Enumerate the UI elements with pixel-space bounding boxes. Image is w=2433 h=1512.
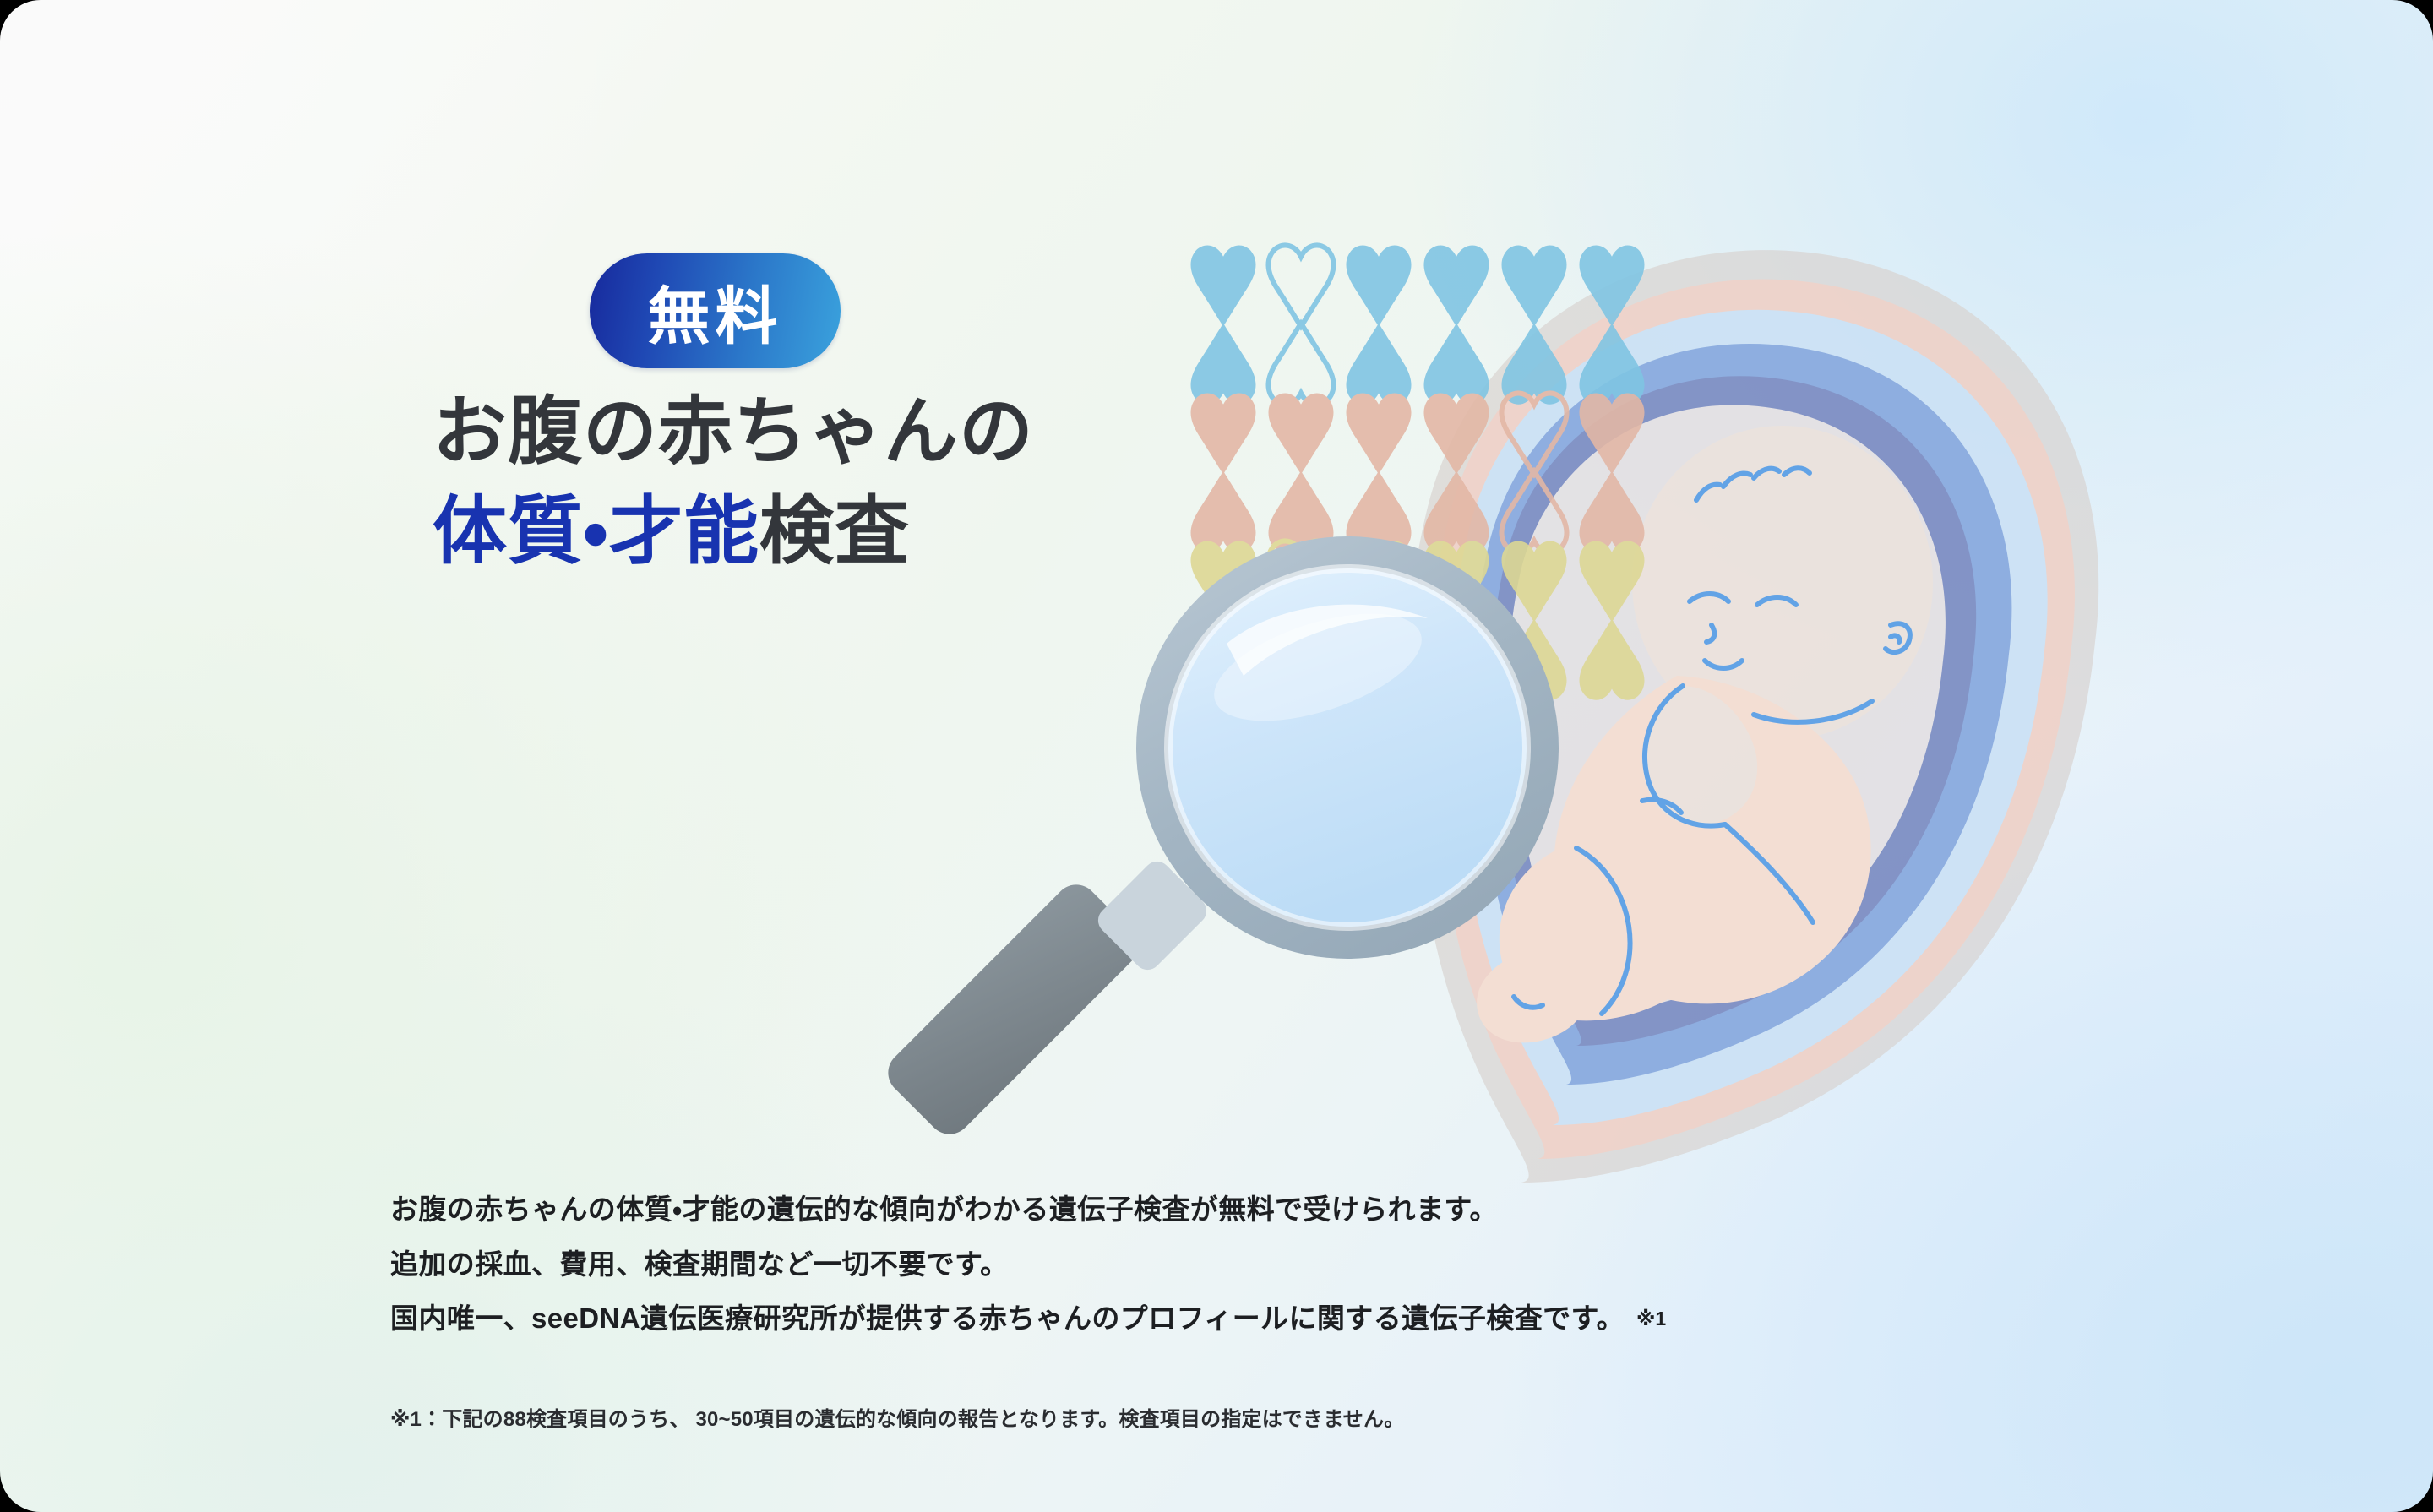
chromosome-grid <box>1191 245 1645 699</box>
footnote-text: ※1：下記の88検査項目のうち、 30~50項目の遺伝的な傾向の報告となります。… <box>390 1402 1404 1432</box>
footnote-reference-marker: ※1 <box>1636 1308 1666 1330</box>
headline-line-1: お腹の赤ちゃんの <box>433 382 1242 481</box>
headline-line-2: 体質・才能検査 <box>433 481 1242 581</box>
headline-line-2-rest: 検査 <box>759 489 910 573</box>
baby-figure <box>1477 426 1933 1042</box>
headline-accent: 体質・才能 <box>433 489 759 573</box>
hero-card: 無料 お腹の赤ちゃんの 体質・才能検査 お腹の赤ちゃんの体質・才能の遺伝的な傾向… <box>0 0 2433 1512</box>
body-line-3: 国内唯一、seeDNA遺伝医療研究所が提供する赤ちゃんのプロフィールに関する遺伝… <box>390 1292 2164 1346</box>
chromosome-row-1 <box>1191 245 1645 404</box>
body-copy: お腹の赤ちゃんの体質・才能の遺伝的な傾向がわかる遺伝子検査が無料で受けられます。… <box>390 1183 2164 1346</box>
free-badge: 無料 <box>590 253 841 368</box>
womb-illustration <box>1406 250 2099 1183</box>
headline-block: 無料 お腹の赤ちゃんの 体質・才能検査 <box>397 253 1242 631</box>
body-line-3-text: 国内唯一、seeDNA遺伝医療研究所が提供する赤ちゃんのプロフィールに関する遺伝… <box>390 1303 1625 1334</box>
page-title: お腹の赤ちゃんの 体質・才能検査 <box>397 382 1242 581</box>
body-line-1: お腹の赤ちゃんの体質・才能の遺伝的な傾向がわかる遺伝子検査が無料で受けられます。 <box>390 1183 2164 1237</box>
chromosome-row-3 <box>1191 541 1645 699</box>
chromosome-row-2 <box>1191 393 1645 552</box>
body-line-2: 追加の採血、費用、検査期間など一切不要です。 <box>390 1237 2164 1292</box>
